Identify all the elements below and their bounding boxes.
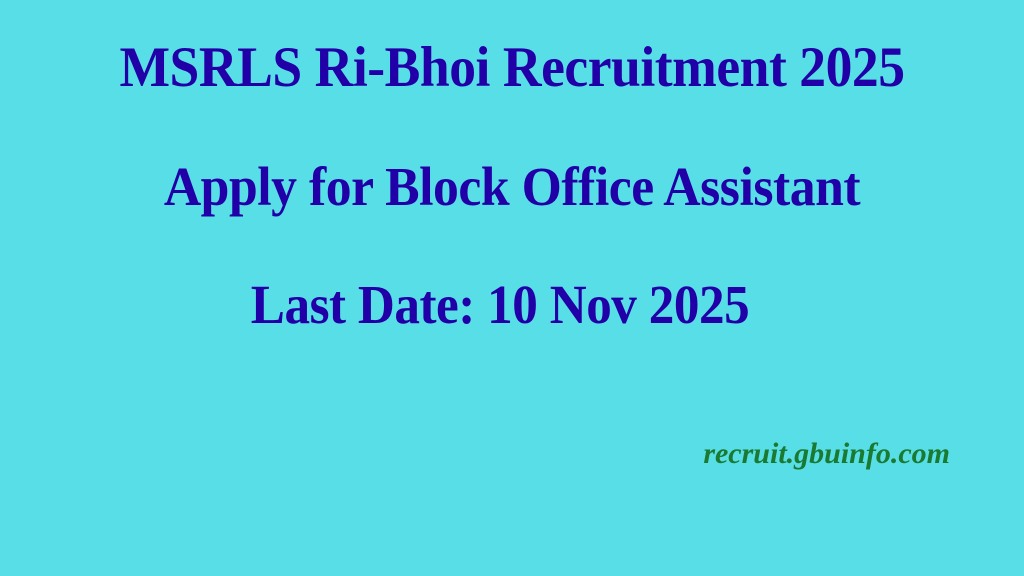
headline-block: MSRLS Ri-Bhoi Recruitment 2025 Apply for…	[0, 0, 1024, 333]
poster-title-line-2: Apply for Block Office Assistant	[31, 158, 994, 216]
recruitment-poster: MSRLS Ri-Bhoi Recruitment 2025 Apply for…	[0, 0, 1024, 576]
site-watermark: recruit.gbuinfo.com	[703, 437, 950, 471]
poster-title-line-1: MSRLS Ri-Bhoi Recruitment 2025	[31, 38, 994, 98]
poster-title-line-3: Last Date: 10 Nov 2025	[13, 276, 988, 334]
